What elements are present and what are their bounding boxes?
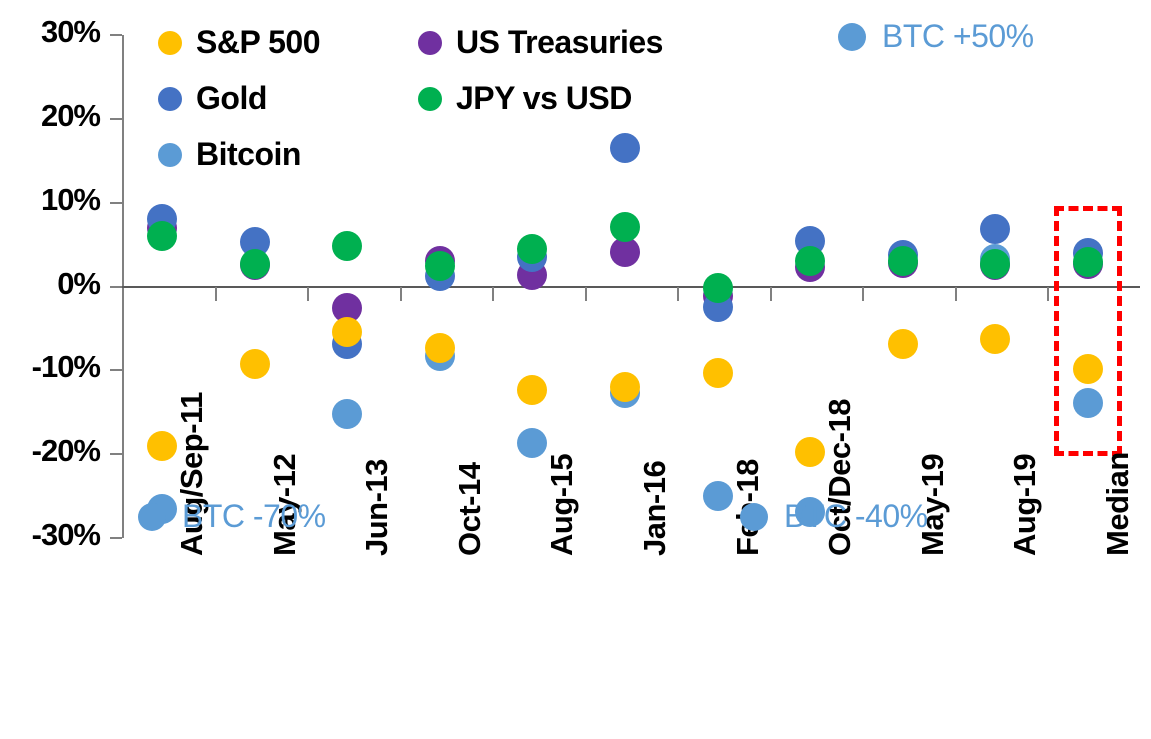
data-point — [703, 273, 733, 303]
x-axis-tick — [677, 287, 679, 301]
legend-item-bitcoin[interactable]: Bitcoin — [158, 136, 301, 173]
legend-item-jpy-vs-usd[interactable]: JPY vs USD — [418, 80, 632, 117]
legend-swatch-icon — [418, 31, 442, 55]
y-axis-tick — [110, 369, 122, 371]
legend-item-s-p-500[interactable]: S&P 500 — [158, 24, 320, 61]
data-point — [332, 231, 362, 261]
data-point — [147, 221, 177, 251]
x-axis-label: Aug-19 — [1007, 454, 1043, 556]
y-axis-tick — [110, 286, 122, 288]
y-axis-label: -10% — [0, 349, 100, 385]
data-point — [610, 212, 640, 242]
x-axis-tick — [400, 287, 402, 301]
legend-swatch-icon — [158, 87, 182, 111]
data-point — [888, 246, 918, 276]
data-point — [1073, 247, 1103, 277]
data-point — [703, 481, 733, 511]
x-axis-tick — [1047, 287, 1049, 301]
annotation-label: BTC -40% — [784, 498, 928, 535]
x-axis-label: Jan-16 — [637, 461, 673, 556]
annotation-btc-40: BTC -40% — [740, 498, 928, 535]
legend-label: Gold — [196, 80, 267, 117]
data-point — [332, 399, 362, 429]
data-point — [1073, 354, 1103, 384]
legend-item-us-treasuries[interactable]: US Treasuries — [418, 24, 663, 61]
annotation-btc-70: BTC -70% — [138, 498, 326, 535]
data-point — [425, 251, 455, 281]
x-axis-tick — [307, 287, 309, 301]
scatter-chart: 30%20%10%0%-10%-20%-30%Aug/Sep-11May-12J… — [0, 0, 1151, 739]
y-axis-tick — [110, 537, 122, 539]
x-axis-tick — [215, 287, 217, 301]
y-axis-tick — [110, 453, 122, 455]
data-point — [425, 333, 455, 363]
y-axis-label: 10% — [0, 182, 100, 218]
data-point — [240, 349, 270, 379]
annotation-marker-icon — [740, 503, 768, 531]
data-point — [610, 372, 640, 402]
x-axis-tick — [585, 287, 587, 301]
data-point — [147, 431, 177, 461]
x-axis-tick — [770, 287, 772, 301]
data-point — [240, 249, 270, 279]
data-point — [703, 358, 733, 388]
y-axis-tick — [110, 118, 122, 120]
data-point — [980, 214, 1010, 244]
data-point — [795, 437, 825, 467]
data-point — [980, 324, 1010, 354]
x-axis-tick — [862, 287, 864, 301]
data-point — [517, 375, 547, 405]
legend-swatch-icon — [158, 143, 182, 167]
y-axis-tick — [110, 202, 122, 204]
legend-swatch-icon — [418, 87, 442, 111]
data-point — [888, 329, 918, 359]
data-point — [610, 133, 640, 163]
data-point — [980, 249, 1010, 279]
y-axis-label: 0% — [0, 266, 100, 302]
x-axis-tick — [955, 287, 957, 301]
legend-swatch-icon — [158, 31, 182, 55]
y-axis-label: 20% — [0, 98, 100, 134]
x-axis-label: Jun-13 — [359, 459, 395, 556]
legend-label: S&P 500 — [196, 24, 320, 61]
x-axis-label: Oct-14 — [452, 463, 488, 556]
annotation-marker-icon — [838, 23, 866, 51]
legend-label: JPY vs USD — [456, 80, 632, 117]
data-point — [332, 317, 362, 347]
data-point — [517, 428, 547, 458]
y-axis-label: -20% — [0, 433, 100, 469]
annotation-marker-icon — [138, 503, 166, 531]
x-axis-label: Aug-15 — [544, 454, 580, 556]
data-point — [1073, 388, 1103, 418]
annotation-label: BTC -70% — [182, 498, 326, 535]
y-axis-label: -30% — [0, 517, 100, 553]
data-point — [795, 246, 825, 276]
legend-label: Bitcoin — [196, 136, 301, 173]
y-axis-tick — [110, 34, 122, 36]
x-axis-label: Median — [1100, 452, 1136, 556]
legend-item-gold[interactable]: Gold — [158, 80, 267, 117]
y-axis-label: 30% — [0, 14, 100, 50]
zero-axis-line — [122, 286, 1140, 288]
annotation-btc-50: BTC +50% — [838, 18, 1034, 55]
x-axis-tick — [492, 287, 494, 301]
legend-label: US Treasuries — [456, 24, 663, 61]
annotation-label: BTC +50% — [882, 18, 1034, 55]
